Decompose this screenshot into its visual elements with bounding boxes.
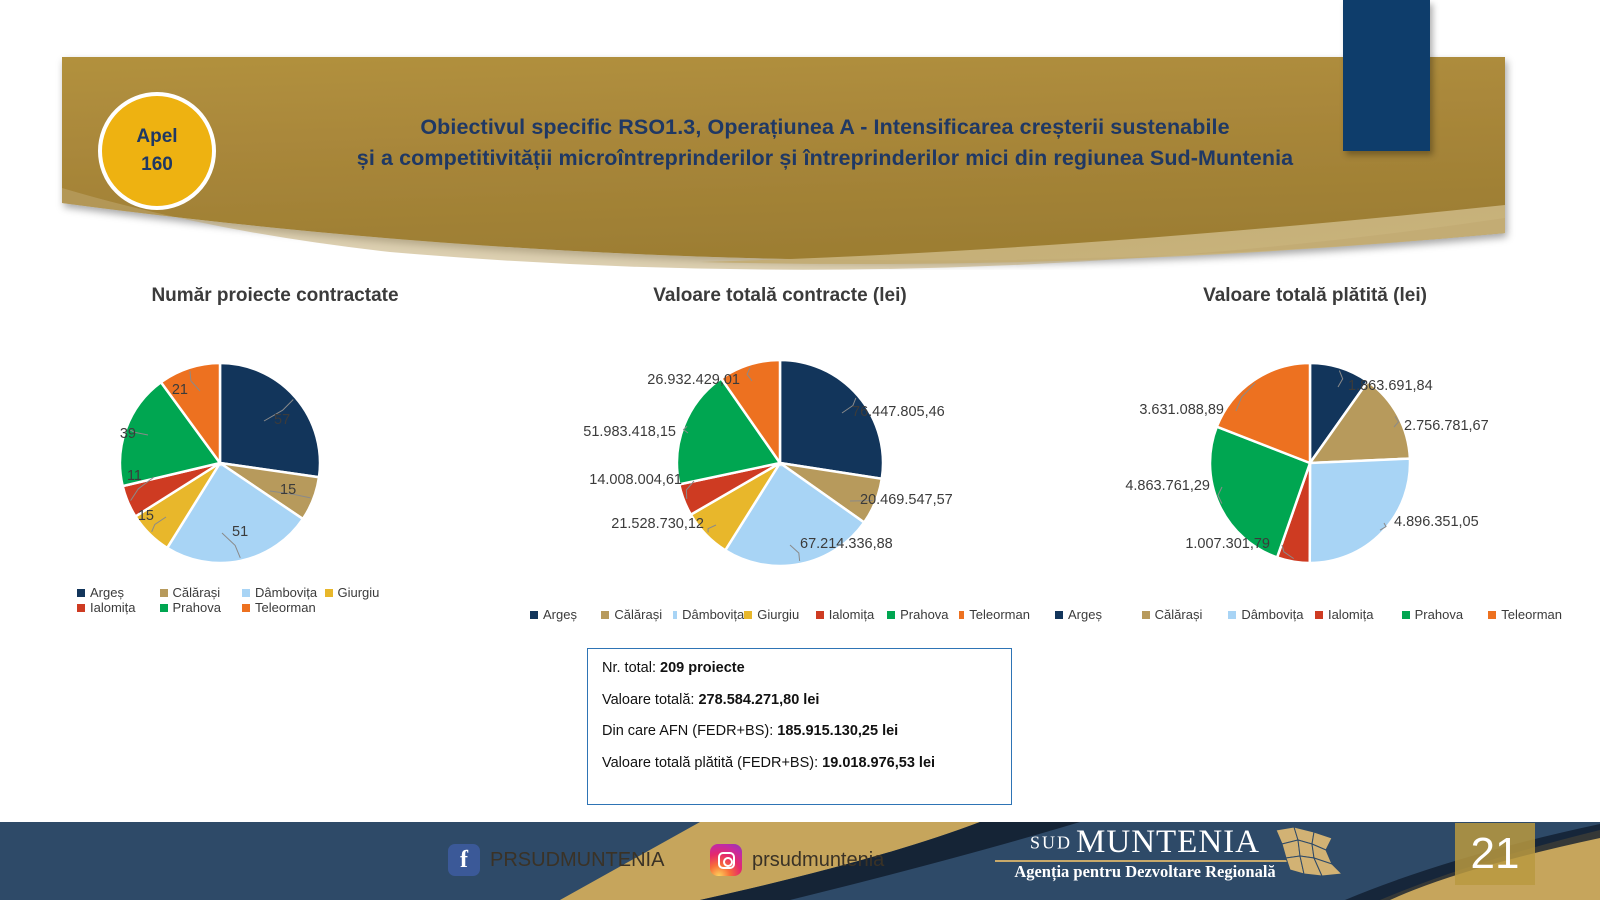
legend-swatch-icon bbox=[242, 589, 250, 597]
pie-data-label: 15 bbox=[280, 483, 296, 498]
legend-label: Teleorman bbox=[255, 600, 316, 615]
legend-item[interactable]: Giurgiu bbox=[744, 607, 815, 622]
legend-swatch-icon bbox=[160, 589, 168, 597]
legend-item[interactable]: Dâmbovița bbox=[1228, 607, 1315, 622]
legend-swatch-icon bbox=[887, 611, 895, 619]
legend-item[interactable]: Teleorman bbox=[1488, 607, 1575, 622]
pie-data-label: 1.863.691,84 bbox=[1348, 379, 1433, 394]
summary-label: Din care AFN (FEDR+BS): bbox=[602, 723, 773, 739]
legend-label: Prahova bbox=[1415, 607, 1463, 622]
summary-row: Valoare totală plătită (FEDR+BS): 19.018… bbox=[602, 756, 1011, 771]
instagram-handle-group[interactable]: prsudmuntenia bbox=[710, 844, 884, 876]
legend-swatch-icon bbox=[242, 604, 250, 612]
legend-swatch-icon bbox=[959, 611, 965, 619]
instagram-handle-label: prsudmuntenia bbox=[752, 849, 884, 872]
chart-valoare-contracte: Valoare totală contracte (lei)76.447.805… bbox=[530, 285, 1030, 603]
summary-row: Din care AFN (FEDR+BS): 185.915.130,25 l… bbox=[602, 724, 1011, 739]
legend-label: Dâmbovița bbox=[1241, 607, 1303, 622]
facebook-handle-group[interactable]: f PRSUDMUNTENIA bbox=[448, 844, 664, 876]
slide-footer: f PRSUDMUNTENIA prsudmuntenia bbox=[0, 820, 1600, 900]
legend-label: Giurgiu bbox=[338, 585, 380, 600]
legend-label: Călărași bbox=[173, 585, 221, 600]
slide-header: Apel 160 Obiectivul specific RSO1.3, Ope… bbox=[0, 0, 1600, 270]
legend-swatch-icon bbox=[673, 611, 677, 619]
legend-label: Argeș bbox=[543, 607, 577, 622]
pie-data-label: 51 bbox=[232, 525, 248, 540]
legend-label: Teleorman bbox=[969, 607, 1030, 622]
pie-data-label: 4.863.761,29 bbox=[1055, 479, 1210, 494]
legend-label: Giurgiu bbox=[757, 607, 799, 622]
pie-slice[interactable] bbox=[1310, 459, 1410, 563]
summary-label: Valoare totală: bbox=[602, 692, 694, 708]
pie-data-label: 51.983.418,15 bbox=[530, 425, 676, 440]
legend-item[interactable]: Teleorman bbox=[959, 607, 1030, 622]
logo-subtitle: Agenția pentru Dezvoltare Regională bbox=[995, 863, 1295, 881]
legend-item[interactable]: Prahova bbox=[160, 600, 243, 615]
legend-label: Teleorman bbox=[1501, 607, 1562, 622]
legend-item[interactable]: Călărași bbox=[160, 585, 243, 600]
page-title-line2: și a competitivității microîntreprinderi… bbox=[300, 143, 1350, 174]
pie-data-label: 11 bbox=[55, 469, 142, 484]
logo-sud: SUD bbox=[1030, 833, 1072, 853]
pie-data-label: 2.756.781,67 bbox=[1404, 419, 1489, 434]
summary-value: 278.584.271,80 lei bbox=[698, 692, 819, 708]
legend-label: Dâmbovița bbox=[255, 585, 317, 600]
legend-swatch-icon bbox=[1142, 611, 1150, 619]
pie-data-label: 4.896.351,05 bbox=[1394, 515, 1479, 530]
instagram-icon[interactable] bbox=[710, 844, 742, 876]
facebook-handle-label: PRSUDMUNTENIA bbox=[490, 849, 664, 872]
facebook-icon[interactable]: f bbox=[448, 844, 480, 876]
page-title: Obiectivul specific RSO1.3, Operațiunea … bbox=[300, 112, 1350, 173]
pie-slices bbox=[55, 313, 495, 603]
pie-slice[interactable] bbox=[220, 363, 320, 477]
pie-data-label: 3.631.088,89 bbox=[1055, 403, 1224, 418]
pie-data-label: 20.469.547,57 bbox=[860, 493, 953, 508]
summary-row: Nr. total: 209 proiecte bbox=[602, 661, 1011, 676]
pie-chart: 76.447.805,4620.469.547,5767.214.336,882… bbox=[530, 313, 1030, 603]
chart-title: Număr proiecte contractate bbox=[55, 285, 495, 307]
summary-row: Valoare totală: 278.584.271,80 lei bbox=[602, 693, 1011, 708]
pie-chart: 57155115113921 bbox=[55, 313, 495, 603]
pie-data-label: 15 bbox=[55, 509, 154, 524]
legend-swatch-icon bbox=[816, 611, 824, 619]
logo-muntenia: MUNTENIA bbox=[1076, 824, 1260, 860]
legend-label: Prahova bbox=[900, 607, 948, 622]
chart-title: Valoare totală plătită (lei) bbox=[1055, 285, 1575, 307]
legend-label: Dâmbovița bbox=[682, 607, 744, 622]
legend-item[interactable]: Dâmbovița bbox=[242, 585, 325, 600]
summary-label: Nr. total: bbox=[602, 660, 656, 676]
pie-chart: 1.863.691,842.756.781,674.896.351,051.00… bbox=[1055, 313, 1575, 603]
chart-legend: ArgeșCălărașiDâmbovițaGiurgiuIalomițaPra… bbox=[530, 607, 1030, 622]
pie-data-label: 14.008.004,61 bbox=[530, 473, 682, 488]
pie-data-label: 26.932.429,01 bbox=[530, 373, 740, 388]
pie-data-label: 76.447.805,46 bbox=[852, 405, 945, 420]
apel-badge-line2: 160 bbox=[141, 151, 173, 179]
pie-slices bbox=[1055, 313, 1575, 603]
legend-item[interactable]: Dâmbovița bbox=[673, 607, 744, 622]
legend-item[interactable]: Argeș bbox=[77, 585, 160, 600]
page-number: 21 bbox=[1455, 823, 1535, 885]
muntenia-region-map-icon bbox=[1270, 824, 1348, 886]
legend-swatch-icon bbox=[325, 589, 333, 597]
decorative-blue-tab bbox=[1343, 0, 1430, 151]
pie-data-label: 67.214.336,88 bbox=[800, 537, 893, 552]
pie-data-label: 21 bbox=[55, 383, 188, 398]
apel-badge: Apel 160 bbox=[98, 92, 216, 210]
summary-value: 209 proiecte bbox=[660, 660, 745, 676]
legend-label: Argeș bbox=[1068, 607, 1102, 622]
pie-data-label: 1.007.301,79 bbox=[1055, 537, 1270, 552]
legend-swatch-icon bbox=[160, 604, 168, 612]
legend-item[interactable]: Giurgiu bbox=[325, 585, 408, 600]
legend-swatch-icon bbox=[601, 611, 609, 619]
chart-legend: ArgeșCălărașiDâmbovițaGiurgiuIalomițaPra… bbox=[77, 585, 407, 615]
apel-badge-line1: Apel bbox=[136, 123, 177, 151]
legend-label: Călărași bbox=[1155, 607, 1203, 622]
legend-label: Călărași bbox=[614, 607, 662, 622]
legend-item[interactable]: Călărași bbox=[1142, 607, 1229, 622]
legend-item[interactable]: Prahova bbox=[1402, 607, 1489, 622]
chart-title: Valoare totală contracte (lei) bbox=[530, 285, 1030, 307]
legend-item[interactable]: Ialomița bbox=[816, 607, 887, 622]
legend-swatch-icon bbox=[744, 611, 752, 619]
sud-muntenia-logo: SUD MUNTENIA Agenția pentru Dezvoltare R… bbox=[995, 826, 1295, 886]
summary-box: Nr. total: 209 proiecte Valoare totală: … bbox=[587, 648, 1012, 805]
chart-legend: ArgeșCălărașiDâmbovițaIalomițaPrahovaTel… bbox=[1055, 607, 1575, 622]
charts-row: Număr proiecte contractate57155115113921… bbox=[0, 285, 1600, 655]
legend-label: Ialomița bbox=[829, 607, 875, 622]
legend-label: Argeș bbox=[90, 585, 124, 600]
legend-swatch-icon bbox=[1488, 611, 1496, 619]
legend-swatch-icon bbox=[77, 589, 85, 597]
chart-valoare-platita: Valoare totală plătită (lei)1.863.691,84… bbox=[1055, 285, 1575, 603]
legend-swatch-icon bbox=[77, 604, 85, 612]
legend-item[interactable]: Călărași bbox=[601, 607, 672, 622]
legend-swatch-icon bbox=[1315, 611, 1323, 619]
legend-item[interactable]: Teleorman bbox=[242, 600, 325, 615]
legend-item[interactable]: Ialomița bbox=[77, 600, 160, 615]
legend-item[interactable]: Ialomița bbox=[1315, 607, 1402, 622]
pie-slices bbox=[530, 313, 1030, 603]
legend-label: Ialomița bbox=[90, 600, 136, 615]
legend-swatch-icon bbox=[1228, 611, 1236, 619]
pie-data-label: 57 bbox=[274, 413, 290, 428]
legend-swatch-icon bbox=[1055, 611, 1063, 619]
legend-swatch-icon bbox=[530, 611, 538, 619]
slide: Apel 160 Obiectivul specific RSO1.3, Ope… bbox=[0, 0, 1600, 900]
legend-swatch-icon bbox=[1402, 611, 1410, 619]
legend-item[interactable]: Prahova bbox=[887, 607, 958, 622]
legend-label: Ialomița bbox=[1328, 607, 1374, 622]
pie-data-label: 21.528.730,12 bbox=[530, 517, 704, 532]
summary-value: 19.018.976,53 lei bbox=[822, 755, 935, 771]
summary-label: Valoare totală plătită (FEDR+BS): bbox=[602, 755, 818, 771]
legend-label: Prahova bbox=[173, 600, 221, 615]
page-title-line1: Obiectivul specific RSO1.3, Operațiunea … bbox=[300, 112, 1350, 143]
pie-data-label: 39 bbox=[55, 427, 136, 442]
summary-value: 185.915.130,25 lei bbox=[777, 723, 898, 739]
legend-item[interactable]: Argeș bbox=[530, 607, 601, 622]
logo-wordmark: SUD MUNTENIA bbox=[995, 826, 1295, 859]
legend-item[interactable]: Argeș bbox=[1055, 607, 1142, 622]
chart-numar-proiecte: Număr proiecte contractate57155115113921… bbox=[55, 285, 495, 603]
